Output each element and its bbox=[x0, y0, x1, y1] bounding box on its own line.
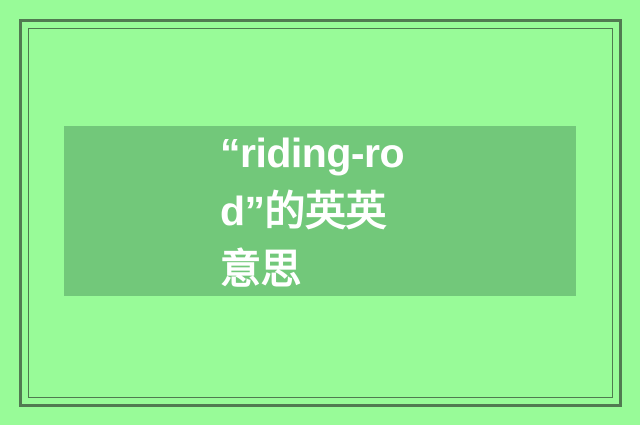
page-title: “riding-rod”的英英意思 bbox=[220, 126, 420, 296]
title-card: “riding-rod”的英英意思 bbox=[64, 126, 576, 296]
page-canvas: “riding-rod”的英英意思 bbox=[0, 0, 640, 425]
